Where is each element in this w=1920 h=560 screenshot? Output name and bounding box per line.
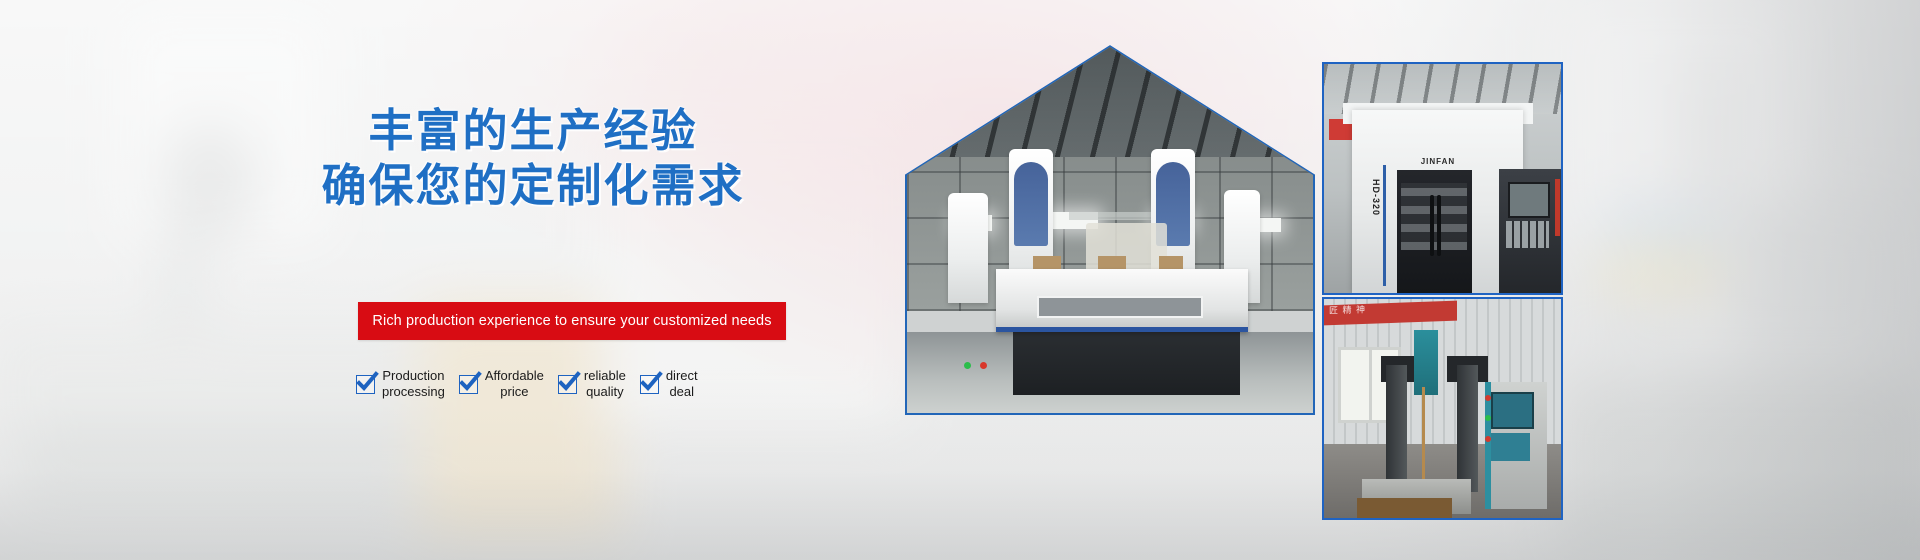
wooden-pallet xyxy=(1357,498,1452,518)
feature-label: reliable quality xyxy=(584,368,626,401)
feature-label: Production processing xyxy=(382,368,445,401)
feature-label-line-2: deal xyxy=(666,384,698,400)
cabinet-screen xyxy=(1491,392,1533,429)
control-screen xyxy=(1508,182,1550,218)
subtitle-text: Rich production experience to ensure you… xyxy=(372,313,771,329)
feature-item: Production processing xyxy=(356,368,445,401)
headline-line-2: 确保您的定制化需求 xyxy=(318,159,748,214)
feature-item: direct deal xyxy=(640,368,698,401)
checkbox-checked-icon xyxy=(356,375,375,394)
door-handle xyxy=(1430,195,1434,256)
boring-rod xyxy=(1422,387,1425,486)
feature-item: Affordable price xyxy=(459,368,544,401)
gantry-milling-machine-scene: 匠 精 神 xyxy=(1324,299,1561,518)
machine-stripe xyxy=(1383,165,1386,286)
feature-label: direct deal xyxy=(666,368,698,401)
promo-banner: 丰富的生产经验 确保您的定制化需求 Rich production experi… xyxy=(0,0,1920,560)
gantry-column xyxy=(1457,365,1478,492)
machine-door xyxy=(1397,170,1472,293)
headline: 丰富的生产经验 确保您的定制化需求 xyxy=(318,104,748,214)
feature-label-line-1: reliable xyxy=(584,368,626,384)
cnc-machining-center-scene: HD-320 JINFAN xyxy=(1324,64,1561,293)
cabinet-keypad xyxy=(1491,433,1529,461)
door-handle xyxy=(1437,195,1441,256)
feature-label-line-1: direct xyxy=(666,368,698,384)
wall-sign xyxy=(1069,212,1150,220)
subtitle-ribbon: Rich production experience to ensure you… xyxy=(358,302,786,340)
control-panel xyxy=(1499,169,1561,293)
machine-column xyxy=(948,193,989,303)
checkbox-checked-icon xyxy=(640,375,659,394)
indicator-light-green xyxy=(964,362,971,369)
feature-label-line-1: Affordable xyxy=(485,368,544,384)
spindle-head xyxy=(1414,330,1438,396)
control-keypad xyxy=(1506,221,1549,248)
feature-label-line-2: processing xyxy=(382,384,445,400)
checkbox-checked-icon xyxy=(558,375,577,394)
feature-label-line-2: price xyxy=(485,384,544,400)
feature-item: reliable quality xyxy=(558,368,626,401)
machine-model-label: HD-320 xyxy=(1371,179,1381,216)
machine-window-slot xyxy=(1037,296,1203,318)
feature-label: Affordable price xyxy=(485,368,544,401)
feature-label-line-1: Production xyxy=(382,368,445,384)
feature-list: Production processing Affordable price r… xyxy=(356,368,816,401)
feature-label-line-2: quality xyxy=(584,384,626,400)
wall-banner-text: 匠 精 神 xyxy=(1329,303,1366,317)
control-cabinet xyxy=(1485,382,1547,509)
thumbnail-cnc-machining-center[interactable]: HD-320 JINFAN xyxy=(1322,62,1563,295)
panel-red-accent xyxy=(1555,179,1560,236)
machine-brand-label: JINFAN xyxy=(1421,157,1455,166)
headline-line-1: 丰富的生产经验 xyxy=(368,104,697,157)
machine-enclosure: HD-320 JINFAN xyxy=(1352,110,1523,293)
gantry-column xyxy=(1386,365,1407,492)
door-window xyxy=(1401,183,1467,251)
thumbnail-gantry-milling-machine[interactable]: 匠 精 神 xyxy=(1322,297,1563,520)
checkbox-checked-icon xyxy=(459,375,478,394)
